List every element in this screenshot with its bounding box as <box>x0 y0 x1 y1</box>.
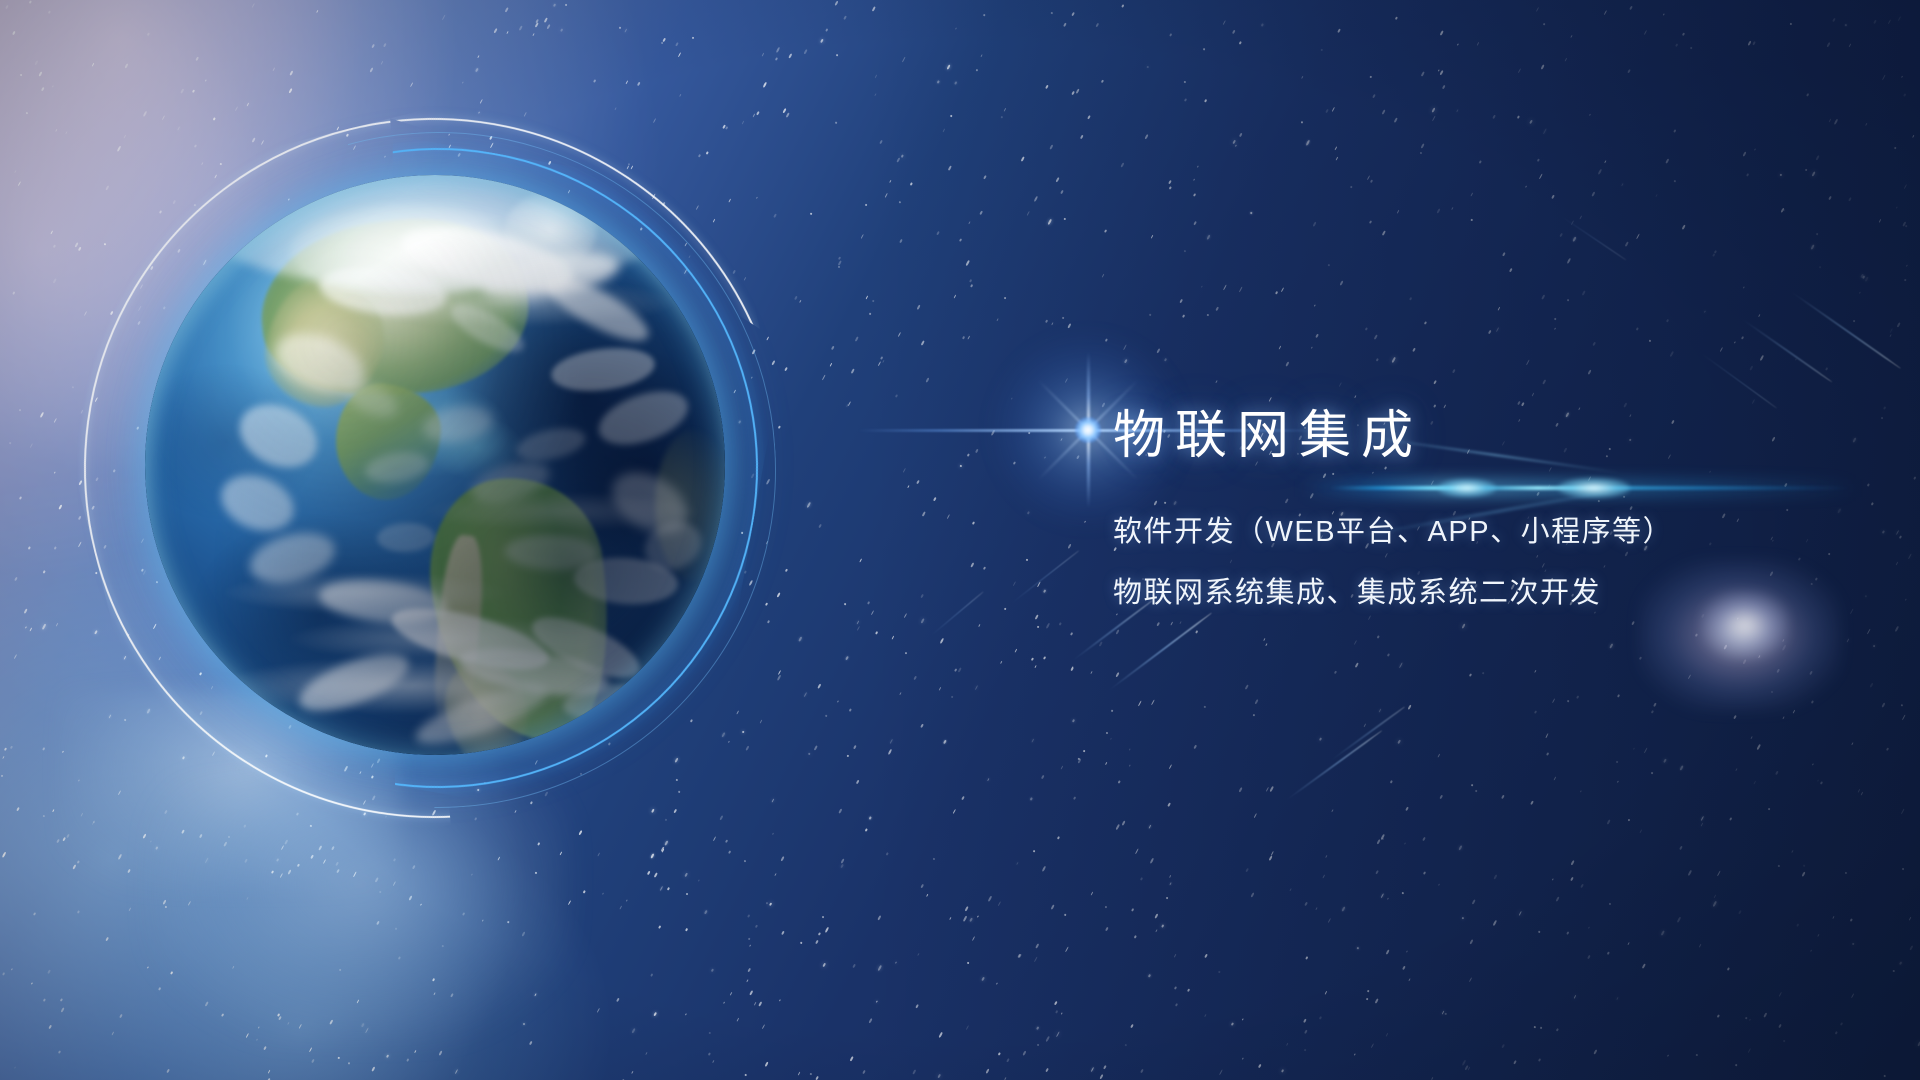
page-title: 物联网集成 <box>1113 410 1873 462</box>
banner-subline-1: 软件开发（WEB平台、APP、小程序等） <box>1113 518 1873 547</box>
banner-text-block: 物联网集成 软件开发（WEB平台、APP、小程序等） 物联网系统集成、集成系统二… <box>1113 410 1873 608</box>
hero-banner: 物联网集成 软件开发（WEB平台、APP、小程序等） 物联网系统集成、集成系统二… <box>0 0 1920 1080</box>
flare-core <box>1075 417 1101 443</box>
banner-subline-2: 物联网系统集成、集成系统二次开发 <box>1113 579 1873 608</box>
